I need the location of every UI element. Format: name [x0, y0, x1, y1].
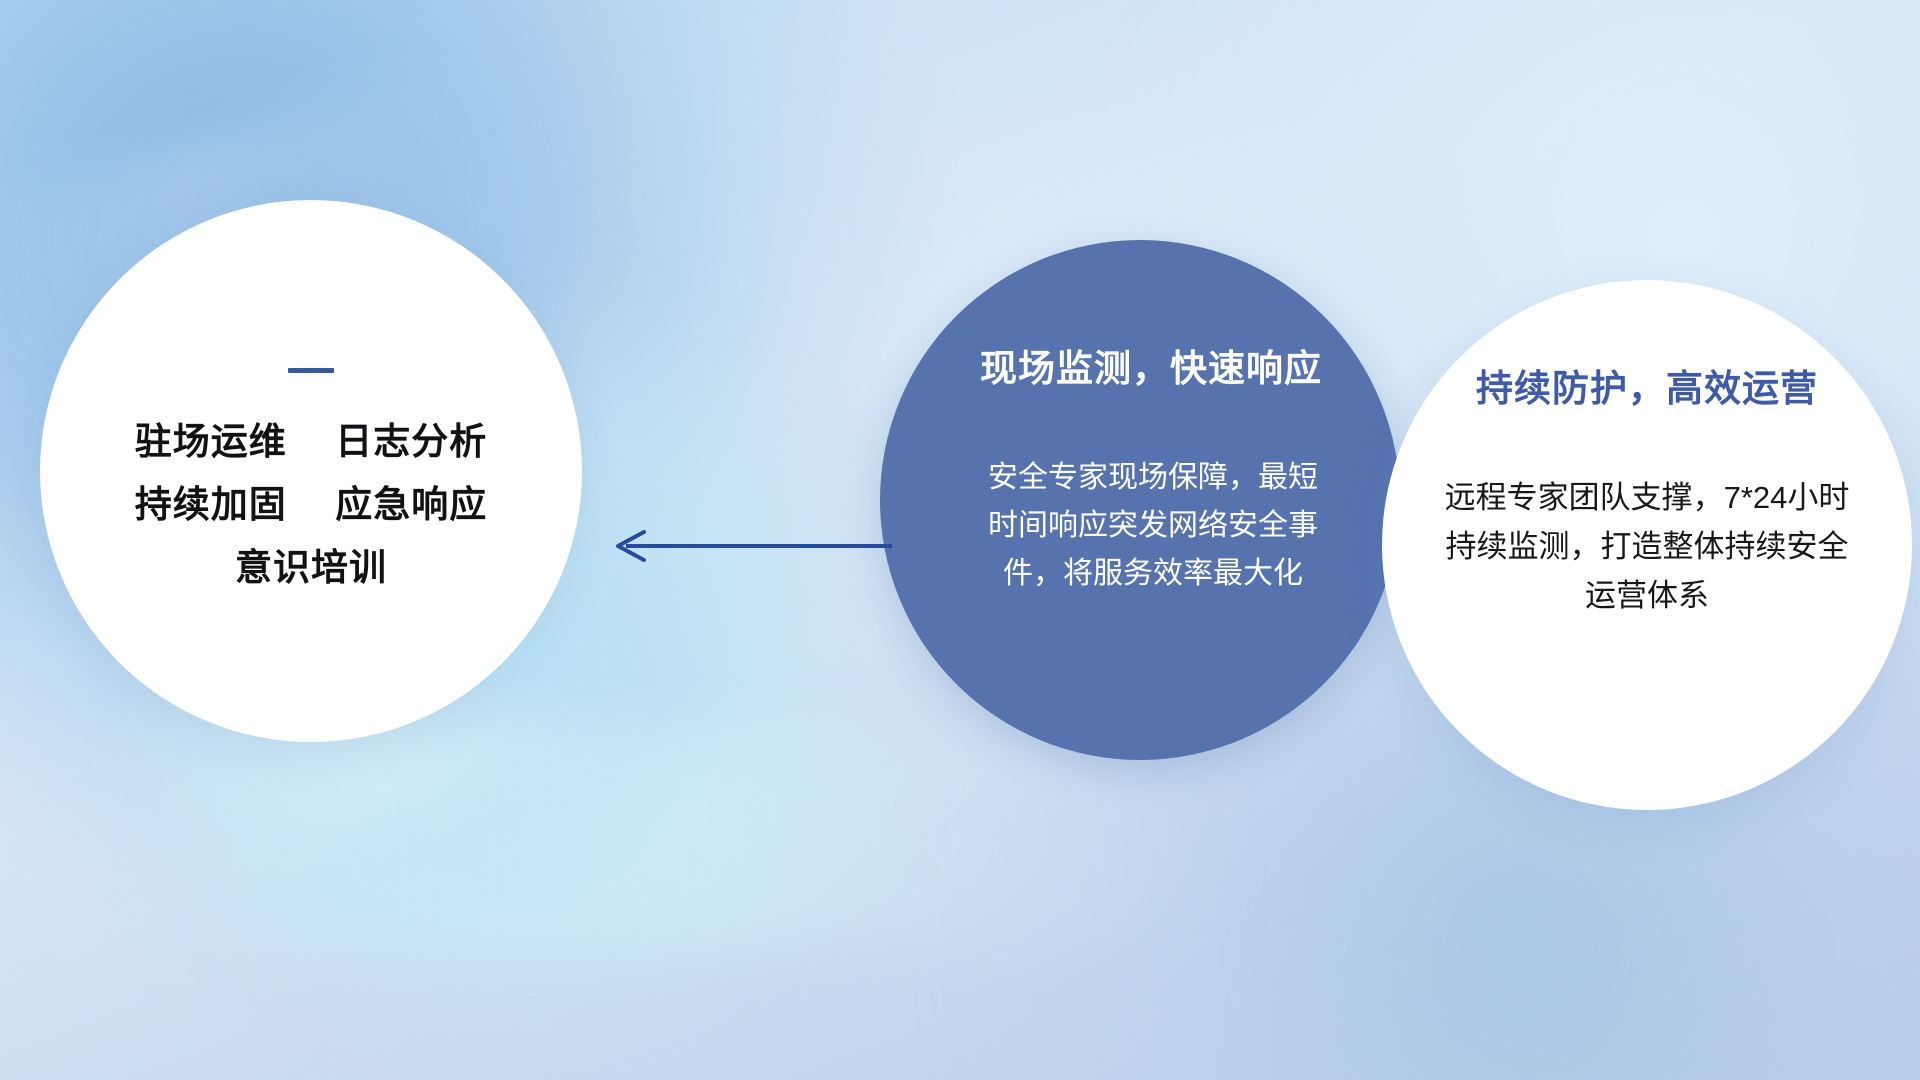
- continuous-protection-body: 远程专家团队支撑，7*24小时持续监测，打造整体持续安全运营体系: [1432, 474, 1862, 621]
- capability-label: 持续加固: [135, 484, 287, 525]
- onsite-monitoring-circle: 现场监测，快速响应 安全专家现场保障，最短时间响应突发网络安全事件，将服务效率最…: [880, 240, 1400, 760]
- capabilities-list: 驻场运维 日志分析 持续加固 应急响应 意识培训: [135, 423, 488, 586]
- list-item: 意识培训: [235, 549, 387, 586]
- onsite-monitoring-title: 现场监测，快速响应: [980, 338, 1322, 392]
- flow-arrow: [600, 520, 900, 574]
- capability-label: 应急响应: [335, 484, 487, 525]
- capability-label: 驻场运维: [135, 421, 287, 462]
- divider-dash-icon: [288, 368, 334, 373]
- slide-canvas: 驻场运维 日志分析 持续加固 应急响应 意识培训 现: [0, 0, 1920, 1080]
- continuous-protection-title: 持续防护，高效运营: [1476, 358, 1818, 412]
- arrow-left-icon: [600, 520, 900, 574]
- capabilities-circle: 驻场运维 日志分析 持续加固 应急响应 意识培训: [40, 200, 582, 742]
- continuous-protection-content: 持续防护，高效运营 远程专家团队支撑，7*24小时持续监测，打造整体持续安全运营…: [1382, 280, 1912, 810]
- capability-label: 日志分析: [335, 421, 487, 462]
- capability-label: 意识培训: [235, 547, 387, 588]
- onsite-monitoring-body: 安全专家现场保障，最短时间响应突发网络安全事件，将服务效率最大化: [988, 454, 1318, 598]
- list-item: 驻场运维 日志分析: [135, 423, 488, 460]
- capabilities-content: 驻场运维 日志分析 持续加固 应急响应 意识培训: [40, 200, 582, 742]
- continuous-protection-circle: 持续防护，高效运营 远程专家团队支撑，7*24小时持续监测，打造整体持续安全运营…: [1382, 280, 1912, 810]
- onsite-monitoring-content: 现场监测，快速响应 安全专家现场保障，最短时间响应突发网络安全事件，将服务效率最…: [880, 240, 1400, 760]
- list-item: 持续加固 应急响应: [135, 486, 488, 523]
